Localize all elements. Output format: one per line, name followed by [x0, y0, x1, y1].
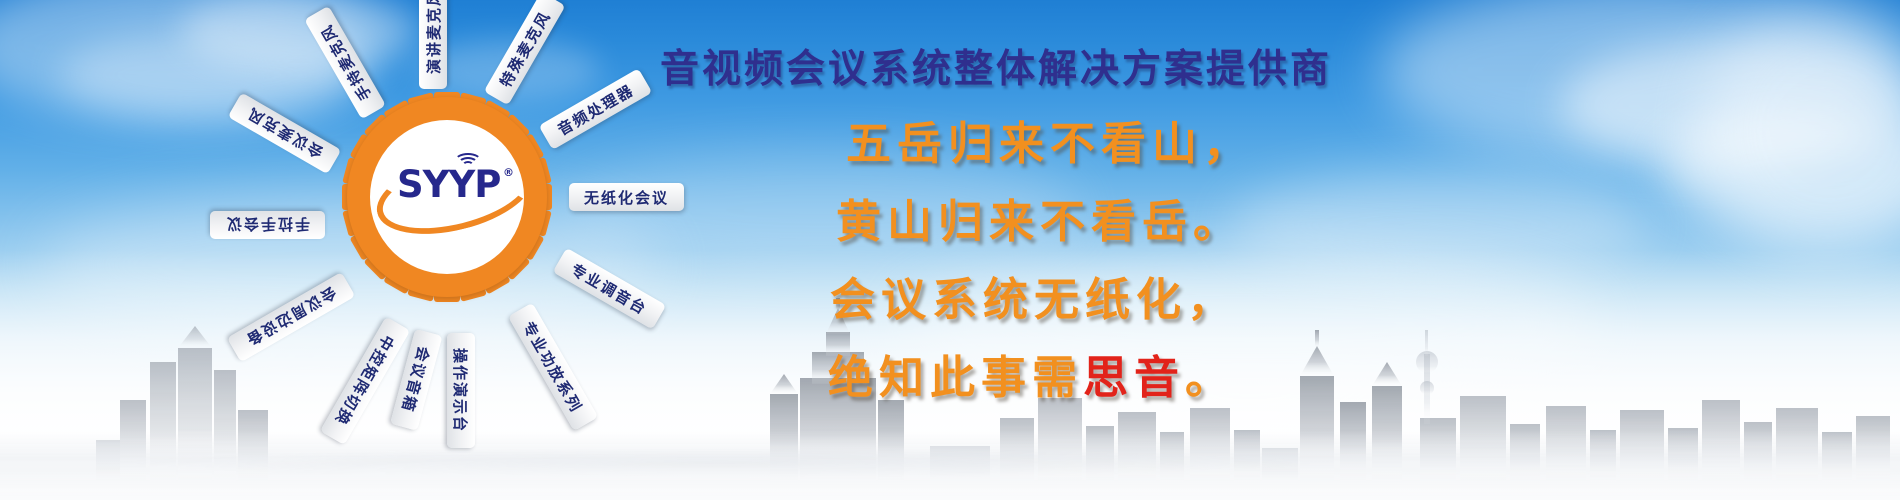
page-title: 音视频会议系统整体解决方案提供商	[660, 38, 1332, 94]
wheel-ray-label[interactable]: 中控矩阵切换	[320, 317, 410, 445]
cloud-decoration	[1380, 0, 1900, 160]
wheel-ray-text: 专业功放系列	[519, 317, 588, 416]
poem-line: 绝知此事需思音。	[828, 339, 1428, 417]
wheel-ray-label[interactable]: 会议麦克风	[228, 93, 342, 175]
wheel-ray-text: 会议周边设备	[242, 283, 341, 352]
wheel-ray-text: 中控矩阵切换	[331, 331, 400, 430]
wheel-ray-text: 专业调音台	[567, 258, 651, 319]
wheel-ray-text: 无纸化会议	[584, 187, 669, 208]
wheel-ray-text: 演讲麦克风	[423, 0, 444, 74]
poem-line: 会议系统无纸化，	[828, 261, 1428, 339]
wheel-ray-label[interactable]: 专业调音台	[553, 248, 667, 330]
cloud-decoration	[1560, 40, 1900, 170]
wheel-ray-text: 操作演示台	[451, 348, 472, 433]
poem-text: 绝知此事需	[828, 351, 1083, 404]
wheel-ray-label[interactable]: 特殊麦克风	[484, 0, 566, 105]
wheel-ray-label[interactable]: 手持麦克风	[304, 6, 386, 120]
wheel-ray-text: 音频处理器	[553, 79, 637, 140]
poem-tail: 。	[1185, 351, 1236, 404]
wheel-ray-text: 会议麦克风	[242, 103, 326, 164]
poem-line: 黄山归来不看岳。	[828, 183, 1428, 261]
cloud-decoration	[1700, 0, 1900, 260]
wheel-ray-label[interactable]: 音频处理器	[539, 68, 653, 150]
product-sunburst-wheel: 演讲麦克风特殊麦克风音频处理器无纸化会议专业调音台专业功放系列操作演示台会议音箱…	[232, 0, 662, 412]
slogan-poem: 五岳归来不看山， 黄山归来不看岳。 会议系统无纸化， 绝知此事需思音。	[828, 105, 1428, 417]
wheel-ray-text: 特殊麦克风	[494, 6, 555, 90]
syyp-logo: SYYP ®	[379, 154, 519, 224]
wheel-ray-text: 手持麦克风	[315, 20, 376, 104]
logo-wordmark: SYYP	[397, 166, 500, 203]
poem-highlight: 思音	[1083, 351, 1185, 404]
ground-plane	[0, 430, 1900, 500]
wheel-ray-label[interactable]: 操作演示台	[447, 333, 475, 448]
registered-trademark-icon: ®	[503, 166, 514, 179]
promo-banner: 演讲麦克风特殊麦克风音频处理器无纸化会议专业调音台专业功放系列操作演示台会议音箱…	[0, 0, 1900, 500]
wheel-ray-label[interactable]: 演讲麦克风	[419, 0, 447, 89]
ground-reflection	[120, 448, 1320, 478]
poem-line: 五岳归来不看山，	[828, 105, 1428, 183]
wheel-ray-label[interactable]: 无纸化会议	[569, 183, 684, 211]
wheel-ray-text: 手拉手会议	[225, 215, 310, 236]
wheel-ray-text: 会议音箱	[397, 344, 435, 415]
wheel-ray-label[interactable]: 手拉手会议	[210, 211, 325, 239]
wheel-ray-label[interactable]: 会议周边设备	[227, 272, 355, 362]
cloud-decoration	[1660, 110, 1900, 230]
wheel-ray-label[interactable]: 专业功放系列	[508, 303, 598, 431]
